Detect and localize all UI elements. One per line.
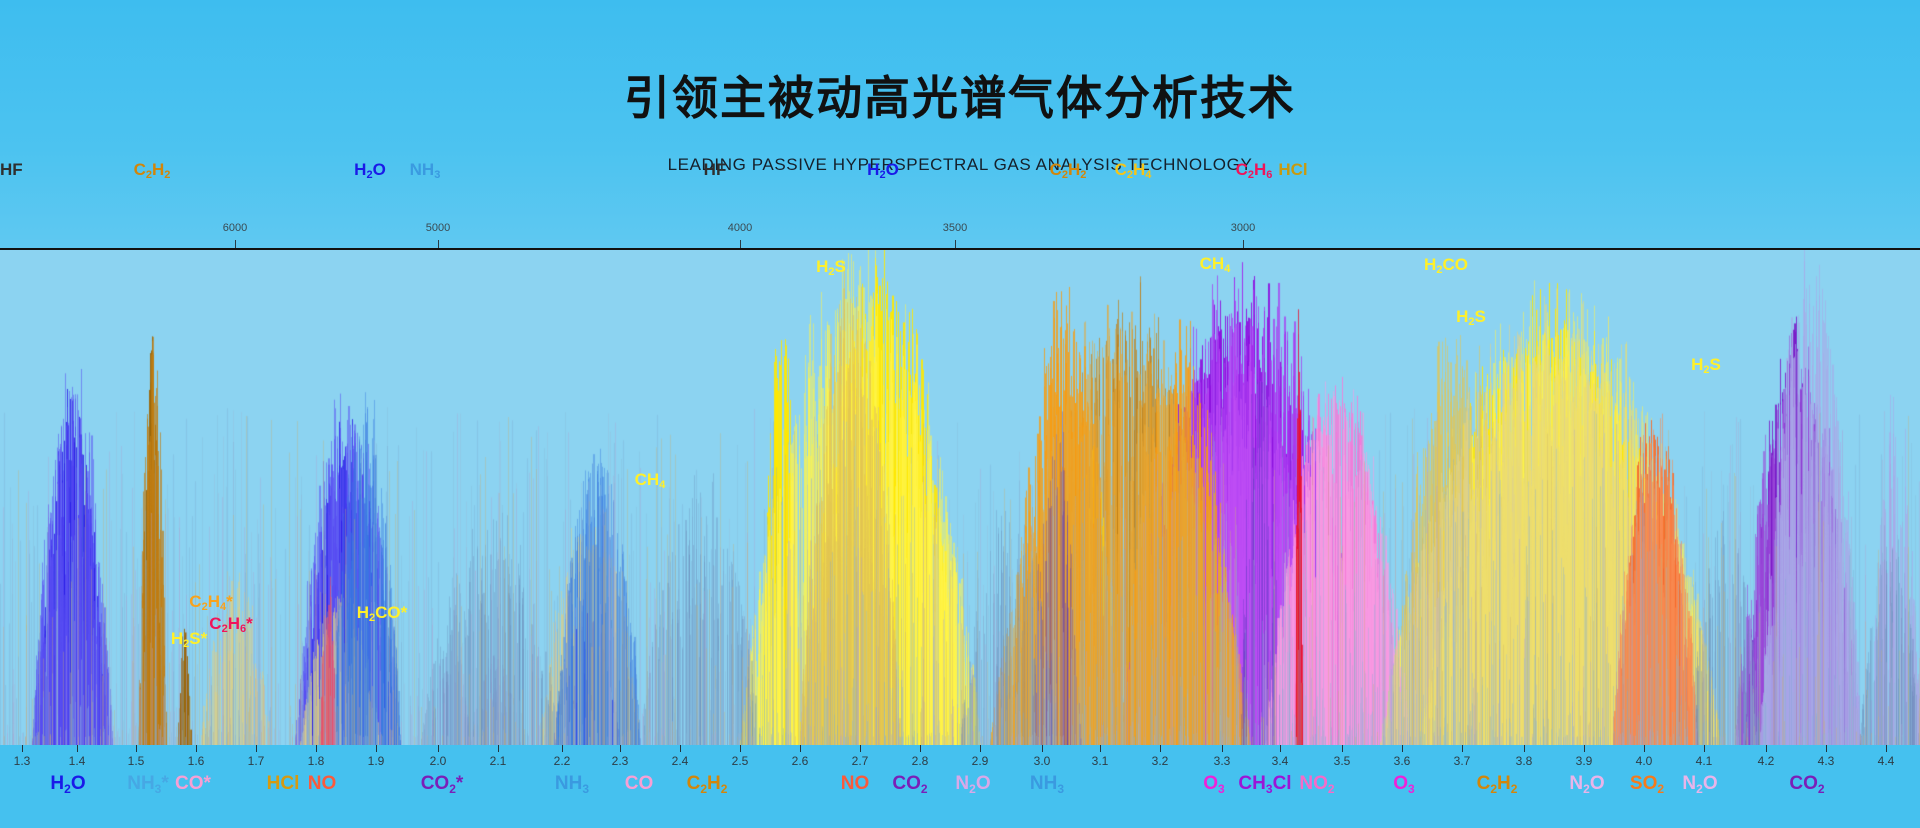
bottom-tick-label: 4.2 [1758,754,1775,768]
bottom-tick-label: 1.7 [248,754,265,768]
bottom-gas-label: O3 [1393,773,1414,795]
bottom-tick-label: 4.4 [1878,754,1895,768]
plot-gas-annotation: H2S [1691,355,1721,375]
bottom-tick-mark [1704,745,1705,752]
bottom-tick-label: 2.8 [912,754,929,768]
poster-root: 引领主被动高光谱气体分析技术 LEADING PASSIVE HYPERSPEC… [0,0,1920,828]
top-tick-mark [438,240,439,248]
bottom-tick-mark [1644,745,1645,752]
plot-gas-annotation: C2H6* [209,614,252,634]
bottom-tick-label: 1.4 [69,754,86,768]
top-gas-label: C2H2 [134,160,171,180]
bottom-tick-label: 3.4 [1272,754,1289,768]
top-gas-label: C2H6 [1236,160,1273,180]
bottom-gas-label: C2H2 [687,773,728,795]
bottom-gas-label: NH3 [555,773,589,795]
spectrum-canvas [0,250,1920,747]
bottom-tick-mark [376,745,377,752]
bottom-tick-label: 2.5 [732,754,749,768]
top-tick-mark [235,240,236,248]
bottom-gas-label: CO2 [1789,773,1824,795]
bottom-tick-label: 3.5 [1334,754,1351,768]
bottom-tick-label: 4.0 [1636,754,1653,768]
bottom-gas-label: N2O [955,773,990,795]
page-title: 引领主被动高光谱气体分析技术 [0,62,1920,128]
bottom-tick-mark [1462,745,1463,752]
bottom-tick-label: 4.1 [1696,754,1713,768]
bottom-tick-label: 2.6 [792,754,809,768]
bottom-tick-mark [1160,745,1161,752]
bottom-tick-label: 2.7 [852,754,869,768]
bottom-tick-mark [1042,745,1043,752]
bottom-tick-mark [562,745,563,752]
bottom-tick-mark [316,745,317,752]
plot-gas-annotation: CH4 [1200,254,1231,274]
top-gas-label: HF [704,160,727,180]
top-gas-label: C2H2 [1050,160,1087,180]
bottom-tick-label: 2.2 [554,754,571,768]
top-gas-label: H2O [867,160,899,180]
top-tick-label: 3000 [1231,222,1255,234]
bottom-tick-mark [22,745,23,752]
bottom-tick-mark [1100,745,1101,752]
bottom-gas-label: N2O [1569,773,1604,795]
top-gas-label: C2H4 [1115,160,1152,180]
top-axis: 60005000400035003000HFC2H2H2ONH3HFH2OC2H… [0,200,1920,248]
bottom-tick-mark [1222,745,1223,752]
bottom-tick-label: 2.9 [972,754,989,768]
bottom-gas-label: NH3 [1030,773,1064,795]
bottom-tick-mark [1766,745,1767,752]
plot-gas-annotation: CH4 [635,470,666,490]
bottom-tick-label: 3.0 [1034,754,1051,768]
bottom-tick-label: 1.6 [188,754,205,768]
bottom-tick-mark [438,745,439,752]
bottom-tick-mark [196,745,197,752]
bottom-tick-mark [980,745,981,752]
bottom-gas-label: CO [625,773,654,795]
bottom-gas-label: NH3* [127,773,169,795]
bottom-gas-label: H2O [50,773,85,795]
bottom-tick-mark [1886,745,1887,752]
top-tick-label: 5000 [426,222,450,234]
header: 引领主被动高光谱气体分析技术 LEADING PASSIVE HYPERSPEC… [0,0,1920,200]
bottom-tick-label: 3.2 [1152,754,1169,768]
plot-gas-annotation: H2S* [171,629,207,649]
bottom-tick-mark [1280,745,1281,752]
bottom-tick-mark [1826,745,1827,752]
plot-gas-annotation: H2S [1456,307,1486,327]
bottom-gas-label: HCl [267,773,300,795]
bottom-gas-label: NO2 [1299,773,1334,795]
top-gas-label: H2O [354,160,386,180]
top-tick-label: 3500 [943,222,967,234]
bottom-tick-mark [680,745,681,752]
bottom-tick-label: 1.9 [368,754,385,768]
bottom-gas-label: SO2 [1630,773,1664,795]
top-gas-label: HCl [1278,160,1307,180]
bottom-gas-label: CO* [175,773,211,795]
bottom-tick-label: 2.3 [612,754,629,768]
bottom-tick-label: 3.1 [1092,754,1109,768]
bottom-tick-label: 3.9 [1576,754,1593,768]
bottom-tick-mark [1584,745,1585,752]
bottom-tick-mark [1524,745,1525,752]
bottom-gas-label: N2O [1682,773,1717,795]
bottom-gas-label: NO [308,773,337,795]
bottom-tick-label: 2.1 [490,754,507,768]
top-tick-label: 6000 [223,222,247,234]
bottom-tick-label: 1.8 [308,754,325,768]
plot-gas-annotation: H2S [816,257,846,277]
top-gas-label: HF [0,160,23,180]
bottom-tick-mark [620,745,621,752]
top-tick-mark [955,240,956,248]
page-subtitle: LEADING PASSIVE HYPERSPECTRAL GAS ANALYS… [0,155,1920,175]
bottom-gas-label: NO [841,773,870,795]
bottom-tick-mark [1402,745,1403,752]
top-gas-label: NH3 [410,160,441,180]
top-tick-label: 4000 [728,222,752,234]
bottom-tick-mark [920,745,921,752]
bottom-tick-mark [860,745,861,752]
bottom-gas-label: O3 [1203,773,1224,795]
bottom-axis: 1.31.41.51.61.71.81.92.02.12.22.32.42.52… [0,745,1920,828]
bottom-tick-label: 2.0 [430,754,447,768]
bottom-tick-mark [256,745,257,752]
spectrum-plot: CH4C2H4*C2H6*H2S*H2CO*CH4H2SCH4H2COH2SH2… [0,248,1920,749]
bottom-tick-label: 3.6 [1394,754,1411,768]
bottom-gas-label: C2H2 [1477,773,1518,795]
bottom-gas-label: CO2* [421,773,464,795]
plot-gas-annotation: H2CO [1424,255,1468,275]
top-tick-mark [1243,240,1244,248]
bottom-tick-label: 1.3 [14,754,31,768]
top-tick-mark [740,240,741,248]
plot-gas-annotation: C2H4* [189,592,232,612]
bottom-tick-mark [1342,745,1343,752]
bottom-gas-label: CH3Cl [1238,773,1291,795]
bottom-tick-mark [498,745,499,752]
bottom-tick-label: 2.4 [672,754,689,768]
bottom-gas-label: CO2 [892,773,927,795]
bottom-tick-mark [77,745,78,752]
plot-gas-annotation: H2CO* [357,603,408,623]
bottom-tick-mark [740,745,741,752]
bottom-tick-label: 3.8 [1516,754,1533,768]
bottom-tick-mark [800,745,801,752]
bottom-tick-label: 4.3 [1818,754,1835,768]
bottom-tick-mark [136,745,137,752]
bottom-tick-label: 3.7 [1454,754,1471,768]
bottom-tick-label: 3.3 [1214,754,1231,768]
bottom-tick-label: 1.5 [128,754,145,768]
